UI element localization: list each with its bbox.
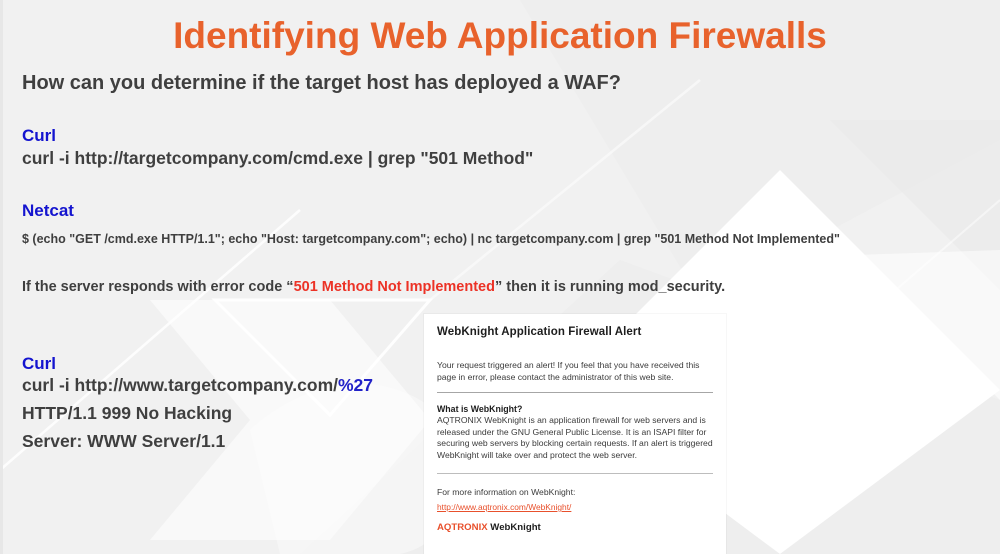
webknight-alert-intro: Your request triggered an alert! If you … <box>437 360 713 383</box>
curl-2-encoded-quote: %27 <box>338 375 373 395</box>
webknight-what-is-heading: What is WebKnight? <box>437 404 713 414</box>
mod-security-note: If the server responds with error code “… <box>22 279 725 295</box>
webknight-brand: AQTRONIX WebKnight <box>437 522 713 533</box>
webknight-what-is-body: AQTRONIX WebKnight is an application fir… <box>437 415 713 461</box>
slide-subtitle: How can you determine if the target host… <box>22 72 621 95</box>
code-curl-2-response-status: HTTP/1.1 999 No Hacking <box>22 403 232 424</box>
note-prefix: If the server responds with error code “ <box>22 279 294 295</box>
section-heading-netcat: Netcat <box>22 201 74 221</box>
code-curl-1-command: curl -i http://targetcompany.com/cmd.exe… <box>22 148 533 169</box>
note-error-code: 501 Method Not Implemented <box>294 279 495 295</box>
alert-divider-top <box>437 392 713 393</box>
slide-canvas: Identifying Web Application Firewalls Ho… <box>0 0 1000 554</box>
note-suffix: ” then it is running mod_security. <box>495 279 725 295</box>
curl-2-url: curl -i http://www.targetcompany.com/ <box>22 375 338 395</box>
alert-divider-bottom <box>437 473 713 474</box>
webknight-alert-screenshot: WebKnight Application Firewall Alert You… <box>424 314 726 554</box>
code-netcat-command: $ (echo "GET /cmd.exe HTTP/1.1"; echo "H… <box>22 232 840 246</box>
brand-aqtronix: AQTRONIX <box>437 522 488 533</box>
webknight-more-info-link[interactable]: http://www.aqtronix.com/WebKnight/ <box>437 502 571 512</box>
page-title: Identifying Web Application Firewalls <box>0 14 1000 58</box>
section-heading-curl-1: Curl <box>22 126 56 146</box>
section-heading-curl-2: Curl <box>22 354 56 374</box>
brand-webknight: WebKnight <box>488 522 541 533</box>
code-curl-2-command: curl -i http://www.targetcompany.com/%27 <box>22 375 373 396</box>
slide-content: Identifying Web Application Firewalls Ho… <box>0 0 1000 554</box>
code-curl-2-response-server: Server: WWW Server/1.1 <box>22 431 225 452</box>
webknight-alert-body: WebKnight Application Firewall Alert You… <box>424 314 726 533</box>
webknight-alert-title: WebKnight Application Firewall Alert <box>437 326 713 338</box>
webknight-more-info-label: For more information on WebKnight: <box>437 487 713 497</box>
